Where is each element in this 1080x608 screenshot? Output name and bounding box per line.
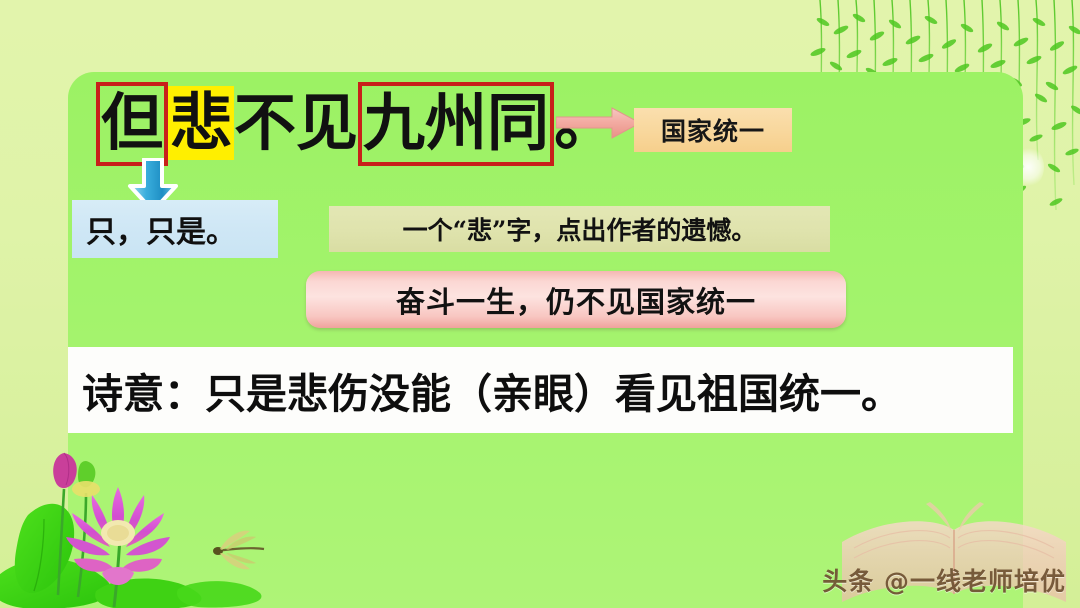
poem-line: 但 悲 不见 九州同 。 xyxy=(96,82,616,166)
note-box-pink-text: 奋斗一生，仍不见国家统一 xyxy=(396,279,756,321)
note-box-blue-text: 只，只是。 xyxy=(86,207,236,251)
poem-meaning-box: 诗意：只是悲伤没能（亲眼）看见祖国统一。 xyxy=(68,347,1013,433)
slide-canvas: 但 悲 不见 九州同 。 国家统一 xyxy=(0,0,1080,608)
note-box-olive-text: 一个“悲”字，点出作者的遗憾。 xyxy=(403,211,757,247)
poem-char-highlight-bei: 悲 xyxy=(168,86,234,160)
poem-chars-bujian: 不见 xyxy=(234,86,358,160)
note-box-lifelong-struggle: 奋斗一生，仍不见国家统一 xyxy=(306,271,846,328)
poem-char-boxed-dan: 但 xyxy=(96,82,168,166)
right-arrow-icon xyxy=(556,106,642,140)
note-box-bei-regret: 一个“悲”字，点出作者的遗憾。 xyxy=(329,206,830,252)
watermark: 头条 @一线老师培优 xyxy=(822,562,1066,598)
tag-peach-label: 国家统一 xyxy=(661,112,765,148)
poem-meaning-text: 诗意：只是悲伤没能（亲眼）看见祖国统一。 xyxy=(82,360,902,420)
tag-national-unification: 国家统一 xyxy=(634,108,792,152)
note-box-meaning-of-dan: 只，只是。 xyxy=(72,200,278,258)
poem-chars-boxed-jiuzhoutong: 九州同 xyxy=(358,82,554,166)
